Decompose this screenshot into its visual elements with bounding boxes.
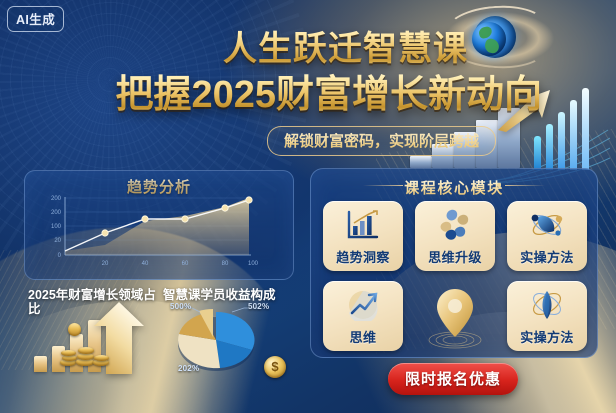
modules-grid: 趋势洞察 思维升级 [323, 201, 587, 351]
leaf-orbit-icon [507, 287, 587, 323]
svg-text:40: 40 [142, 261, 149, 267]
map-pin-icon [415, 283, 495, 351]
ai-generated-badge: AI生成 [7, 6, 64, 32]
svg-text:200: 200 [51, 210, 62, 216]
svg-text:100: 100 [51, 224, 62, 230]
core-modules-panel: 课程核心模块 趋势洞察 [310, 168, 598, 358]
bar-chart-icon [323, 207, 403, 243]
module-card-mindset[interactable]: 思维 [323, 281, 403, 351]
growth-share-label: 2025年财富增长领域占比 [28, 288, 160, 316]
trend-analysis-panel: 趋势分析 [24, 170, 294, 280]
module-card-label: 趋势洞察 [336, 247, 390, 266]
svg-text:200: 200 [51, 196, 62, 202]
module-card-label: 思维升级 [428, 247, 482, 266]
puzzle-pieces-icon [415, 207, 495, 243]
svg-text:0: 0 [58, 253, 62, 259]
module-card-practical-method-2[interactable]: 实操方法 [507, 281, 587, 351]
svg-text:100: 100 [248, 261, 259, 267]
globe-icon [472, 22, 506, 56]
title-dot-right [497, 183, 501, 187]
svg-text:20: 20 [54, 238, 61, 244]
title-dash-right [505, 185, 545, 186]
atom-orbit-icon [507, 207, 587, 243]
module-card-label: 实操方法 [520, 247, 574, 266]
pie-slice-label-1: 500% [170, 302, 191, 311]
page-title-line2: 把握2025财富增长新动向 [115, 63, 542, 118]
module-card-label: 实操方法 [520, 327, 574, 346]
svg-text:60: 60 [182, 261, 189, 267]
limited-time-offer-badge[interactable]: 限时报名优惠 [388, 363, 518, 395]
earnings-composition-label: 智慧课学员收益构成 [163, 288, 291, 302]
module-card-mindset-upgrade[interactable]: 思维升级 [415, 201, 495, 271]
pie-slice-label-2: 502% [248, 302, 269, 311]
trend-line-chart: 200 200 100 20 0 20 40 60 80 100 [31, 193, 289, 277]
poster-canvas: AI生成 [0, 0, 616, 413]
header: 人生跃迁智慧课 把握2025财富增长新动向 解锁财富密码，实现阶层跨越 [0, 0, 616, 160]
svg-text:20: 20 [102, 261, 109, 267]
pie-slice-label-3: 202% [178, 364, 199, 373]
core-modules-title: 课程核心模块 [311, 177, 597, 198]
page-subtitle: 解锁财富密码，实现阶层跨越 [267, 126, 496, 156]
module-card-trend-insight[interactable]: 趋势洞察 [323, 201, 403, 271]
trend-arrow-circle-icon [323, 287, 403, 323]
svg-text:80: 80 [222, 261, 229, 267]
dollar-coin-icon: $ [264, 356, 286, 378]
module-card-label: 思维 [350, 327, 377, 346]
module-card-practical-method[interactable]: 实操方法 [507, 201, 587, 271]
earnings-pie-chart: 500% 502% 202% $ [170, 300, 288, 382]
